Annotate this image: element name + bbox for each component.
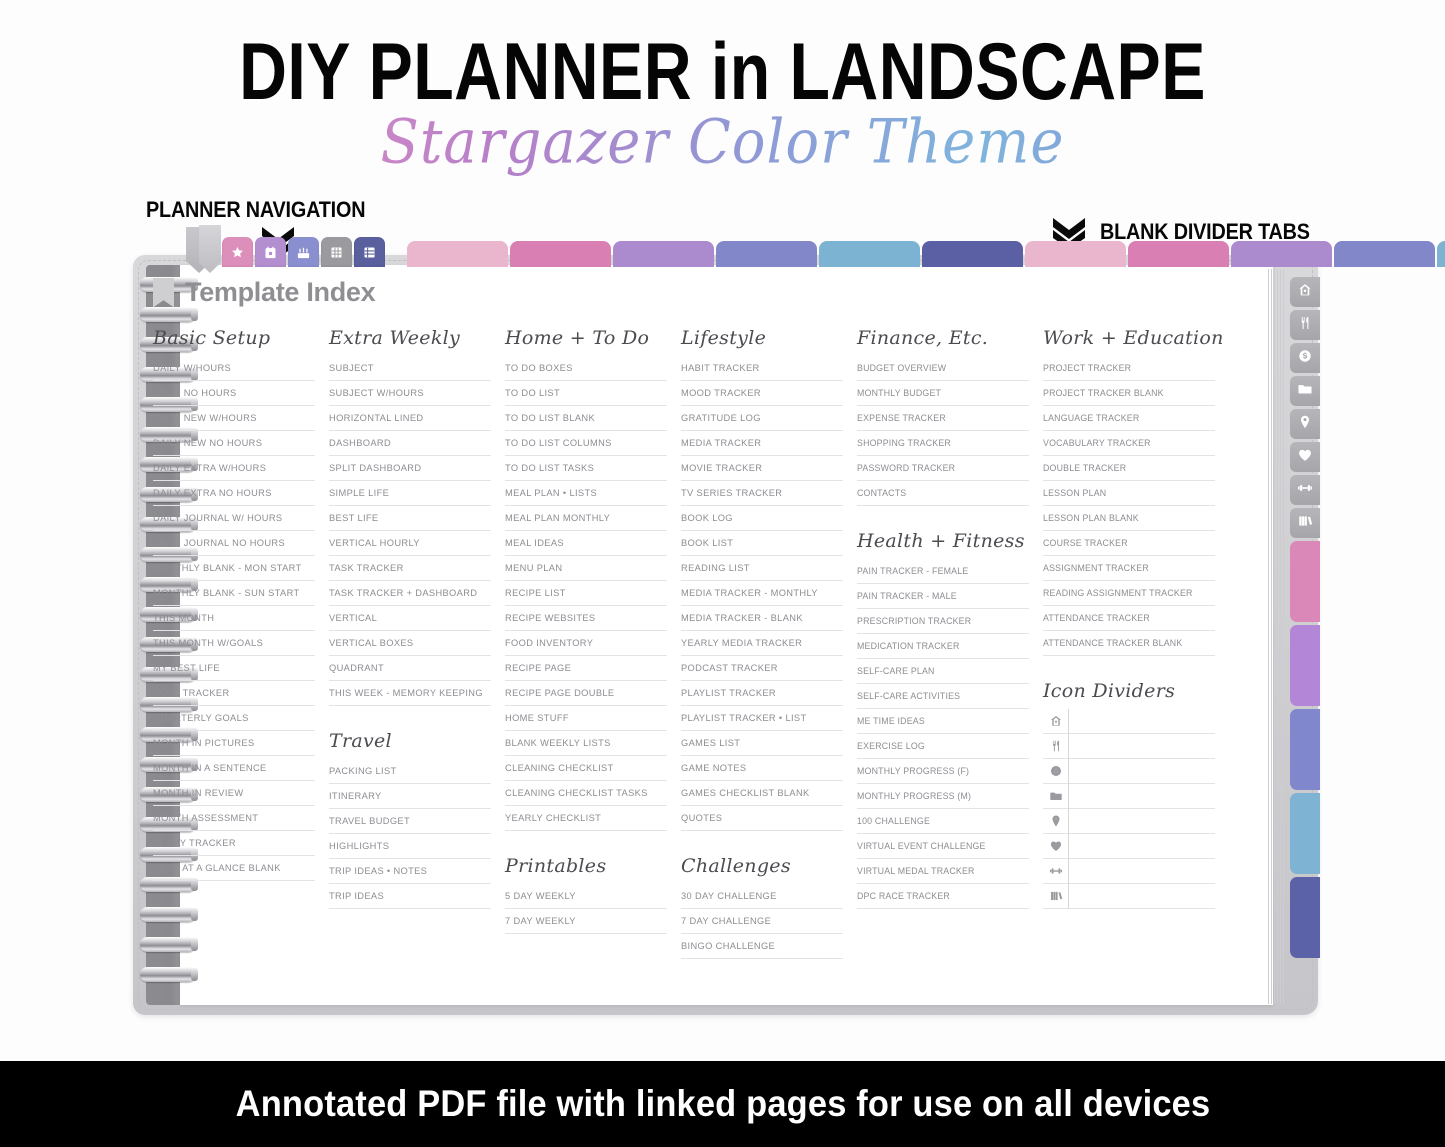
template-link[interactable]: GAMES LIST xyxy=(681,731,843,756)
template-link[interactable]: CONTACTS xyxy=(857,481,1029,506)
template-link[interactable]: ATTENDANCE TRACKER xyxy=(1043,606,1215,631)
nav-tab-grid[interactable] xyxy=(321,237,352,267)
index-column: Extra WeeklySUBJECTSUBJECT W/HOURSHORIZO… xyxy=(329,327,491,977)
template-link[interactable]: 100 CHALLENGE xyxy=(857,809,1029,834)
template-link[interactable]: DAILY EXTRA NO HOURS xyxy=(153,481,315,506)
section-heading: Health + Fitness xyxy=(857,530,1029,552)
books-icon xyxy=(1297,513,1313,534)
template-list: SUBJECTSUBJECT W/HOURSHORIZONTAL LINEDDA… xyxy=(329,356,491,706)
dumbbell-icon xyxy=(1043,859,1069,884)
template-link[interactable]: MEDIA TRACKER - BLANK xyxy=(681,606,843,631)
template-link[interactable]: HIGHLIGHTS xyxy=(329,834,491,859)
template-link[interactable]: COURSE TRACKER xyxy=(1043,531,1215,556)
template-link[interactable]: MONTH ASSESSMENT xyxy=(153,806,315,831)
template-list: 5 DAY WEEKLY7 DAY WEEKLY xyxy=(505,884,667,934)
section-heading: Extra Weekly xyxy=(329,327,491,349)
grid-icon xyxy=(329,245,344,260)
template-link[interactable]: TRIP IDEAS • NOTES xyxy=(329,859,491,884)
blank-divider-tab[interactable] xyxy=(613,241,714,267)
template-link[interactable]: VERTICAL xyxy=(329,606,491,631)
template-link[interactable]: MEDIA TRACKER - MONTHLY xyxy=(681,581,843,606)
blank-divider-tab[interactable] xyxy=(1437,241,1445,267)
template-link[interactable]: LESSON PLAN BLANK xyxy=(1043,506,1215,531)
icon-divider-row[interactable] xyxy=(1043,884,1215,909)
section-heading: Home + To Do xyxy=(505,327,667,349)
poster-root: DIY PLANNER in LANDSCAPE Stargazer Color… xyxy=(0,0,1445,1147)
side-blank-divider-tab[interactable] xyxy=(1290,541,1320,622)
template-link[interactable]: YEARLY CHECKLIST xyxy=(505,806,667,831)
template-list: PAIN TRACKER - FEMALEPAIN TRACKER - MALE… xyxy=(857,559,1029,909)
template-list: PACKING LISTITINERARYTRAVEL BUDGETHIGHLI… xyxy=(329,759,491,909)
template-link[interactable]: DOUBLE TRACKER xyxy=(1043,456,1215,481)
template-list: 30 DAY CHALLENGE7 DAY CHALLENGEBINGO CHA… xyxy=(681,884,843,959)
template-link[interactable]: PODCAST TRACKER xyxy=(681,656,843,681)
blank-divider-tab[interactable] xyxy=(1231,241,1332,267)
dollar-icon xyxy=(1043,759,1069,784)
template-link[interactable]: GAME NOTES xyxy=(681,756,843,781)
side-tab-bar[interactable] xyxy=(1290,277,1320,958)
template-link[interactable]: DAILY JOURNAL NO HOURS xyxy=(153,531,315,556)
side-icon-tab-dumbbell[interactable] xyxy=(1290,475,1320,505)
template-link[interactable]: BUDGET OVERVIEW xyxy=(857,356,1029,381)
template-link[interactable]: PROJECT TRACKER BLANK xyxy=(1043,381,1215,406)
section-heading: Lifestyle xyxy=(681,327,843,349)
index-column: Home + To DoTO DO BOXESTO DO LISTTO DO L… xyxy=(505,327,667,977)
template-link[interactable]: FOOD INVENTORY xyxy=(505,631,667,656)
template-link[interactable]: ME TIME IDEAS xyxy=(857,709,1029,734)
template-link[interactable]: VIRTUAL MEDAL TRACKER xyxy=(857,859,1029,884)
section-heading: Printables xyxy=(505,855,667,877)
nav-tab-calendar[interactable] xyxy=(255,237,286,267)
blank-divider-tab[interactable] xyxy=(1128,241,1229,267)
bottom-banner: Annotated PDF file with linked pages for… xyxy=(0,1061,1445,1147)
blank-divider-tab[interactable] xyxy=(716,241,817,267)
icon-divider-list xyxy=(1043,709,1215,909)
template-link[interactable]: DPC RACE TRACKER xyxy=(857,884,1029,909)
template-link[interactable]: MONTH IN PICTURES xyxy=(153,731,315,756)
template-link[interactable]: ASSIGNMENT TRACKER xyxy=(1043,556,1215,581)
template-link[interactable]: PACKING LIST xyxy=(329,759,491,784)
template-link[interactable]: 7 DAY CHALLENGE xyxy=(681,909,843,934)
side-icon-tab-books[interactable] xyxy=(1290,508,1320,538)
books-icon xyxy=(1043,884,1069,909)
template-link[interactable]: GRATITUDE LOG xyxy=(681,406,843,431)
side-icon-tab-heart[interactable] xyxy=(1290,442,1320,472)
template-link[interactable]: ITINERARY xyxy=(329,784,491,809)
folder-icon xyxy=(1043,784,1069,809)
template-link[interactable]: VOCABULARY TRACKER xyxy=(1043,431,1215,456)
template-link[interactable]: DAILY NEW W/HOURS xyxy=(153,406,315,431)
planner-mockup: Template Index Basic SetupDAILY W/HOURSD… xyxy=(133,255,1318,1015)
template-link[interactable]: BLANK WEEKLY LISTS xyxy=(505,731,667,756)
index-column: Basic SetupDAILY W/HOURSDAILY NO HOURSDA… xyxy=(153,327,315,977)
section-heading: Finance, Etc. xyxy=(857,327,1029,349)
pin-icon xyxy=(1297,414,1313,435)
template-link[interactable]: VERTICAL BOXES xyxy=(329,631,491,656)
template-link[interactable]: MONTHLY PROGRESS (F) xyxy=(857,759,1029,784)
template-link[interactable]: TO DO LIST BLANK xyxy=(505,406,667,431)
utensils-icon xyxy=(1297,315,1313,336)
template-link[interactable]: CLEANING CHECKLIST TASKS xyxy=(505,781,667,806)
icon-divider-row[interactable] xyxy=(1043,734,1215,759)
template-link[interactable]: TO DO LIST COLUMNS xyxy=(505,431,667,456)
template-link[interactable]: 30 DAY CHALLENGE xyxy=(681,884,843,909)
template-link[interactable]: TO DO BOXES xyxy=(505,356,667,381)
template-link[interactable]: THIS WEEK - MEMORY KEEPING xyxy=(329,681,491,706)
spiral-ring xyxy=(140,307,196,322)
blank-divider-tab[interactable] xyxy=(1025,241,1126,267)
template-link[interactable]: DAILY EXTRA W/HOURS xyxy=(153,456,315,481)
template-link[interactable]: PAIN TRACKER - MALE xyxy=(857,584,1029,609)
template-link[interactable]: TO DO LIST TASKS xyxy=(505,456,667,481)
side-icon-tab-dollar[interactable] xyxy=(1290,343,1320,373)
template-link[interactable]: DAILY NEW NO HOURS xyxy=(153,431,315,456)
section-heading: Icon Dividers xyxy=(1043,680,1215,702)
blank-divider-tab[interactable] xyxy=(1334,241,1435,267)
folder-icon xyxy=(1297,381,1313,402)
template-link[interactable]: BEST LIFE xyxy=(329,506,491,531)
template-link[interactable]: YEAR AT A GLANCE BLANK xyxy=(153,856,315,881)
index-header: Template Index xyxy=(153,277,375,308)
template-link[interactable]: MONTH IN REVIEW xyxy=(153,781,315,806)
top-tab-bar[interactable] xyxy=(222,237,1445,267)
template-link[interactable]: MONTHLY BLANK - SUN START xyxy=(153,581,315,606)
blank-divider-tab[interactable] xyxy=(819,241,920,267)
icon-divider-row[interactable] xyxy=(1043,809,1215,834)
template-link[interactable]: SUBJECT W/HOURS xyxy=(329,381,491,406)
bookmark-icon xyxy=(153,278,174,308)
template-link[interactable]: ATTENDANCE TRACKER BLANK xyxy=(1043,631,1215,656)
template-link[interactable]: MEDICATION TRACKER xyxy=(857,634,1029,659)
page-subtitle: Stargazer Color Theme xyxy=(0,107,1445,177)
template-list: DAILY W/HOURSDAILY NO HOURSDAILY NEW W/H… xyxy=(153,356,315,881)
page-title: DIY PLANNER in LANDSCAPE xyxy=(58,26,1387,118)
section-heading: Travel xyxy=(329,730,491,752)
template-link[interactable]: GOAL TRACKER xyxy=(153,681,315,706)
section-heading: Work + Education xyxy=(1043,327,1215,349)
icon-divider-row[interactable] xyxy=(1043,759,1215,784)
template-link[interactable]: MONTHLY BUDGET xyxy=(857,381,1029,406)
nav-tab-list[interactable] xyxy=(354,237,385,267)
index-columns: Basic SetupDAILY W/HOURSDAILY NO HOURSDA… xyxy=(153,327,1208,977)
template-link[interactable]: MEAL IDEAS xyxy=(505,531,667,556)
nav-tab-cake[interactable] xyxy=(288,237,319,267)
icon-divider-row[interactable] xyxy=(1043,709,1215,734)
template-link[interactable]: LESSON PLAN xyxy=(1043,481,1215,506)
template-link[interactable]: RECIPE PAGE DOUBLE xyxy=(505,681,667,706)
template-link[interactable]: PLAYLIST TRACKER xyxy=(681,681,843,706)
template-link[interactable]: GAMES CHECKLIST BLANK xyxy=(681,781,843,806)
icon-divider-row[interactable] xyxy=(1043,834,1215,859)
index-column: Finance, Etc.BUDGET OVERVIEWMONTHLY BUDG… xyxy=(857,327,1029,977)
index-column: Work + EducationPROJECT TRACKERPROJECT T… xyxy=(1043,327,1215,977)
template-link[interactable]: QUADRANT xyxy=(329,656,491,681)
template-link[interactable]: PLAYLIST TRACKER • LIST xyxy=(681,706,843,731)
dollar-icon xyxy=(1297,348,1313,369)
template-list: TO DO BOXESTO DO LISTTO DO LIST BLANKTO … xyxy=(505,356,667,831)
side-blank-divider-tab[interactable] xyxy=(1290,625,1320,706)
template-link[interactable]: TRAVEL BUDGET xyxy=(329,809,491,834)
dumbbell-icon xyxy=(1297,480,1313,501)
template-list: BUDGET OVERVIEWMONTHLY BUDGETEXPENSE TRA… xyxy=(857,356,1029,506)
star-icon xyxy=(230,245,245,260)
template-link[interactable]: TASK TRACKER xyxy=(329,556,491,581)
side-blank-divider-tab[interactable] xyxy=(1290,709,1320,790)
heart-icon xyxy=(1297,447,1313,468)
template-link[interactable]: DAILY W/HOURS xyxy=(153,356,315,381)
template-link[interactable]: SELF-CARE ACTIVITIES xyxy=(857,684,1029,709)
template-link[interactable]: PROJECT TRACKER xyxy=(1043,356,1215,381)
template-link[interactable]: VIRTUAL EVENT CHALLENGE xyxy=(857,834,1029,859)
blank-divider-tab[interactable] xyxy=(510,241,611,267)
template-link[interactable]: 5 DAY WEEKLY xyxy=(505,884,667,909)
index-column: LifestyleHABIT TRACKERMOOD TRACKERGRATIT… xyxy=(681,327,843,977)
index-title: Template Index xyxy=(185,277,375,308)
template-link[interactable]: HABIT TRACKER xyxy=(681,356,843,381)
template-link[interactable]: THIS MONTH W/GOALS xyxy=(153,631,315,656)
side-blank-divider-tab[interactable] xyxy=(1290,877,1320,958)
template-link[interactable]: MONTHLY PROGRESS (M) xyxy=(857,784,1029,809)
template-link[interactable]: DAILY NO HOURS xyxy=(153,381,315,406)
page-edge-stack xyxy=(1268,269,1290,1004)
template-link[interactable]: BINGO CHALLENGE xyxy=(681,934,843,959)
icon-divider-row[interactable] xyxy=(1043,784,1215,809)
template-link[interactable]: RECIPE PAGE xyxy=(505,656,667,681)
template-link[interactable]: TASK TRACKER + DASHBOARD xyxy=(329,581,491,606)
template-link[interactable]: MEAL PLAN MONTHLY xyxy=(505,506,667,531)
template-link[interactable]: SHOPPING TRACKER xyxy=(857,431,1029,456)
template-link[interactable]: MENU PLAN xyxy=(505,556,667,581)
side-icon-tab-utensils[interactable] xyxy=(1290,310,1320,340)
section-heading: Challenges xyxy=(681,855,843,877)
side-blank-divider-tab[interactable] xyxy=(1290,793,1320,874)
template-link[interactable]: 31 DAY TRACKER xyxy=(153,831,315,856)
template-link[interactable]: READING LIST xyxy=(681,556,843,581)
icon-divider-row[interactable] xyxy=(1043,859,1215,884)
template-link[interactable]: MOOD TRACKER xyxy=(681,381,843,406)
template-link[interactable]: DAILY JOURNAL W/ HOURS xyxy=(153,506,315,531)
template-link[interactable]: MONTH IN A SENTENCE xyxy=(153,756,315,781)
template-link[interactable]: YEARLY MEDIA TRACKER xyxy=(681,631,843,656)
template-link[interactable]: MEDIA TRACKER xyxy=(681,431,843,456)
template-link[interactable]: VERTICAL HOURLY xyxy=(329,531,491,556)
template-link[interactable]: MY BEST LIFE xyxy=(153,656,315,681)
template-link[interactable]: SIMPLE LIFE xyxy=(329,481,491,506)
template-link[interactable]: MONTHLY BLANK - MON START xyxy=(153,556,315,581)
side-icon-tab-pin[interactable] xyxy=(1290,409,1320,439)
annotation-planner-navigation: PLANNER NAVIGATION xyxy=(146,197,365,223)
home-icon xyxy=(1043,709,1069,734)
template-link[interactable]: PASSWORD TRACKER xyxy=(857,456,1029,481)
template-link[interactable]: PRESCRIPTION TRACKER xyxy=(857,609,1029,634)
cake-icon xyxy=(296,245,311,260)
side-icon-tab-folder[interactable] xyxy=(1290,376,1320,406)
nav-tab-star[interactable] xyxy=(222,237,253,267)
list-icon xyxy=(362,245,377,260)
template-link[interactable]: HOME STUFF xyxy=(505,706,667,731)
pin-icon xyxy=(1043,809,1069,834)
template-link[interactable]: BOOK LOG xyxy=(681,506,843,531)
blank-divider-tab[interactable] xyxy=(407,241,508,267)
template-link[interactable]: MEAL PLAN • LISTS xyxy=(505,481,667,506)
template-link[interactable]: QUOTES xyxy=(681,806,843,831)
template-link[interactable]: EXPENSE TRACKER xyxy=(857,406,1029,431)
template-link[interactable]: DASHBOARD xyxy=(329,431,491,456)
template-link[interactable]: CLEANING CHECKLIST xyxy=(505,756,667,781)
template-list: HABIT TRACKERMOOD TRACKERGRATITUDE LOGME… xyxy=(681,356,843,831)
template-link[interactable]: SPLIT DASHBOARD xyxy=(329,456,491,481)
template-link[interactable]: HORIZONTAL LINED xyxy=(329,406,491,431)
calendar-icon xyxy=(263,245,278,260)
blank-divider-tab[interactable] xyxy=(922,241,1023,267)
template-link[interactable]: TV SERIES TRACKER xyxy=(681,481,843,506)
heart-icon xyxy=(1043,834,1069,859)
template-link[interactable]: RECIPE WEBSITES xyxy=(505,606,667,631)
template-link[interactable]: BOOK LIST xyxy=(681,531,843,556)
section-heading: Basic Setup xyxy=(153,327,315,349)
home-icon xyxy=(1297,282,1313,303)
template-link[interactable]: MOVIE TRACKER xyxy=(681,456,843,481)
template-link[interactable]: LANGUAGE TRACKER xyxy=(1043,406,1215,431)
template-link[interactable]: EXERCISE LOG xyxy=(857,734,1029,759)
template-link[interactable]: SUBJECT xyxy=(329,356,491,381)
template-link[interactable]: SELF-CARE PLAN xyxy=(857,659,1029,684)
template-link[interactable]: RECIPE LIST xyxy=(505,581,667,606)
template-link[interactable]: READING ASSIGNMENT TRACKER xyxy=(1043,581,1215,606)
template-link[interactable]: THIS MONTH xyxy=(153,606,315,631)
utensils-icon xyxy=(1043,734,1069,759)
template-link[interactable]: TRIP IDEAS xyxy=(329,884,491,909)
template-link[interactable]: PAIN TRACKER - FEMALE xyxy=(857,559,1029,584)
template-link[interactable]: 7 DAY WEEKLY xyxy=(505,909,667,934)
side-icon-tab-home[interactable] xyxy=(1290,277,1320,307)
template-link[interactable]: QUARTERLY GOALS xyxy=(153,706,315,731)
template-link[interactable]: TO DO LIST xyxy=(505,381,667,406)
template-list: PROJECT TRACKERPROJECT TRACKER BLANKLANG… xyxy=(1043,356,1215,656)
banner-text: Annotated PDF file with linked pages for… xyxy=(235,1083,1210,1125)
